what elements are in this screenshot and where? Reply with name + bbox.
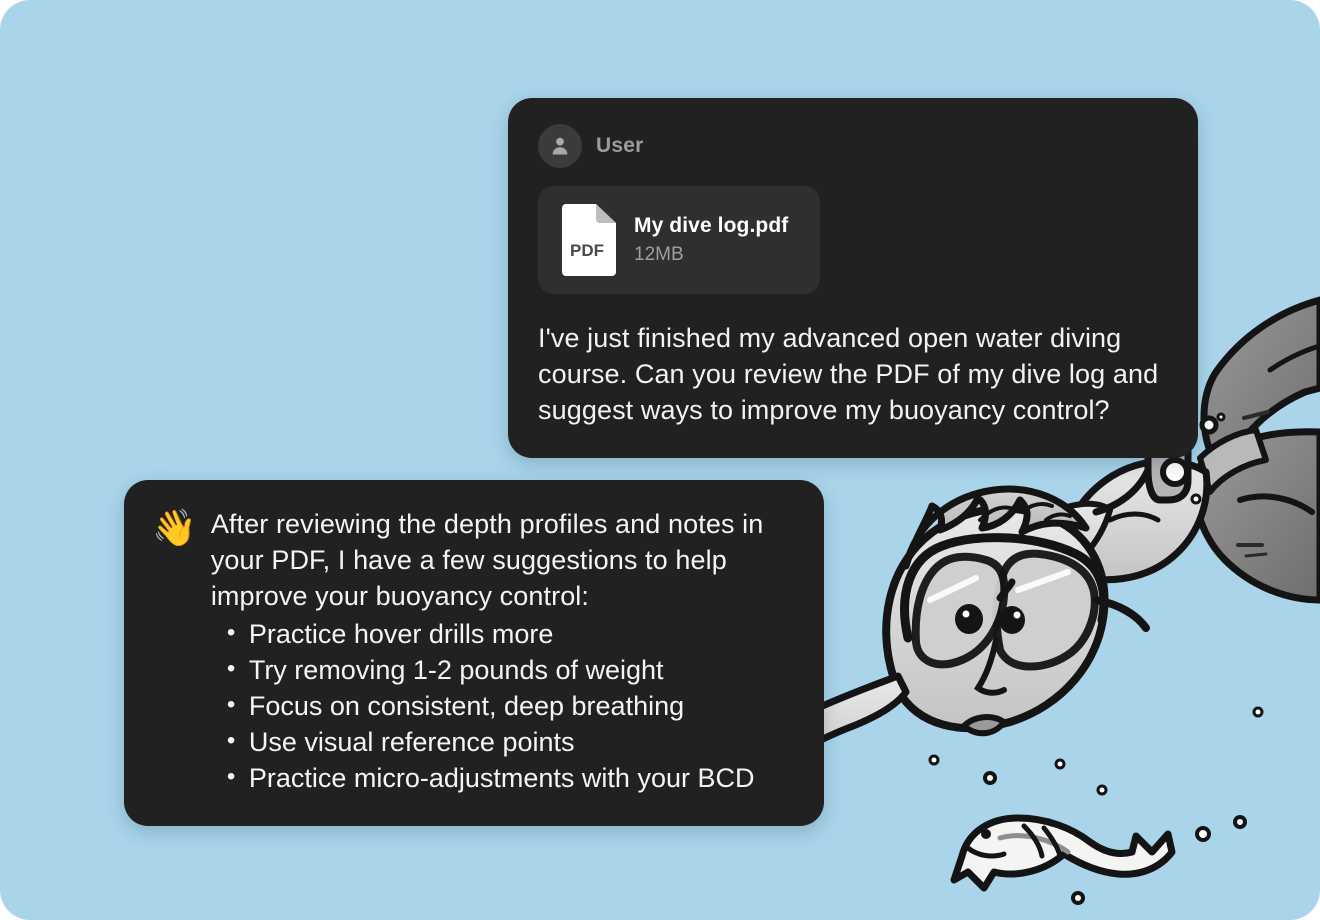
assistant-body: After reviewing the depth profiles and n… — [211, 506, 794, 796]
file-size: 12MB — [634, 244, 788, 266]
list-item: Practice micro-adjustments with your BCD — [249, 760, 794, 796]
list-item: Use visual reference points — [249, 724, 794, 760]
user-message-text: I've just finished my advanced open wate… — [538, 320, 1168, 428]
suggestion-list: Practice hover drills more Try removing … — [211, 616, 794, 796]
svg-text:PDF: PDF — [570, 241, 604, 260]
waving-hand-emoji: 👋 — [152, 508, 197, 548]
pdf-attachment-card[interactable]: PDF My dive log.pdf 12MB — [538, 186, 820, 294]
chat-layer: User PDF My dive log.pdf 12MB I've just … — [0, 0, 1320, 920]
list-item: Practice hover drills more — [249, 616, 794, 652]
list-item: Focus on consistent, deep breathing — [249, 688, 794, 724]
sender-label: User — [596, 134, 644, 158]
list-item: Try removing 1-2 pounds of weight — [249, 652, 794, 688]
file-name: My dive log.pdf — [634, 214, 788, 238]
person-avatar-icon — [538, 124, 582, 168]
user-message-bubble: User PDF My dive log.pdf 12MB I've just … — [508, 98, 1198, 458]
assistant-row: 👋 After reviewing the depth profiles and… — [152, 506, 794, 796]
file-meta: My dive log.pdf 12MB — [634, 214, 788, 266]
assistant-message-bubble: 👋 After reviewing the depth profiles and… — [124, 480, 824, 826]
user-header: User — [538, 124, 1168, 168]
screenshot-canvas: User PDF My dive log.pdf 12MB I've just … — [0, 0, 1320, 920]
assistant-intro-text: After reviewing the depth profiles and n… — [211, 506, 794, 614]
pdf-file-icon: PDF — [558, 204, 616, 276]
